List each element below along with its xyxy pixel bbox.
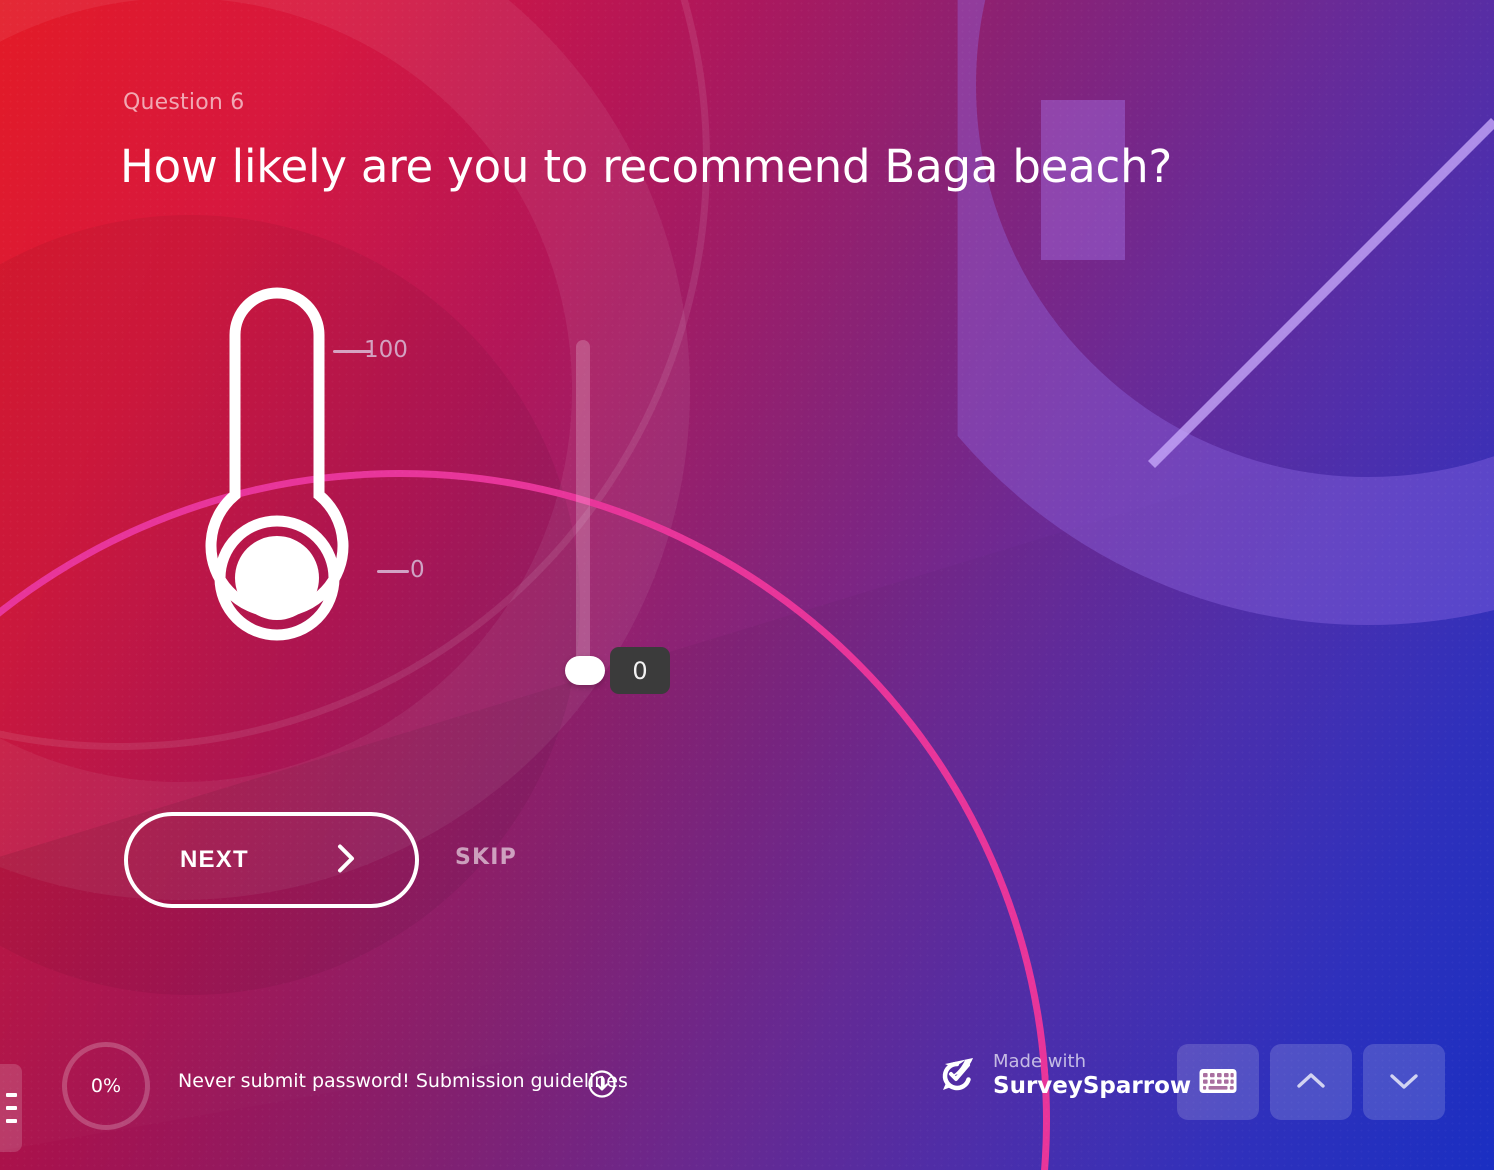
progress-label: 0% <box>91 1075 121 1097</box>
chevron-down-icon <box>1387 1069 1421 1096</box>
chevron-right-icon <box>335 843 357 878</box>
next-button[interactable]: NEXT <box>124 812 419 908</box>
keyboard-icon <box>1198 1066 1238 1099</box>
product-name: SurveySparrow <box>993 1073 1191 1099</box>
next-button-label: NEXT <box>180 846 249 874</box>
survey-content: Question 6 How likely are you to recomme… <box>0 0 1494 1170</box>
menu-dots-icon[interactable] <box>0 1064 22 1152</box>
surveysparrow-check-icon <box>935 1052 979 1100</box>
rating-value-bubble: 0 <box>610 647 670 694</box>
progress-indicator: 0% <box>62 1042 150 1130</box>
submission-warning-text: Never submit password! Submission guidel… <box>178 1070 628 1092</box>
rating-slider-track[interactable] <box>576 340 590 682</box>
next-question-button[interactable] <box>1363 1044 1445 1120</box>
skip-button[interactable]: SKIP <box>455 845 517 870</box>
previous-question-button[interactable] <box>1270 1044 1352 1120</box>
thermometer-graphic: 100 0 <box>165 280 395 694</box>
keyboard-button[interactable] <box>1177 1044 1259 1120</box>
scale-label-max: 100 <box>364 337 408 363</box>
made-with-label: Made with <box>993 1052 1191 1073</box>
question-title: How likely are you to recommend Baga bea… <box>120 140 1172 193</box>
question-number: Question 6 <box>123 90 244 115</box>
chevron-up-icon <box>1294 1069 1328 1096</box>
download-circle-icon[interactable] <box>587 1069 617 1103</box>
branding[interactable]: Made with SurveySparrow <box>935 1052 1191 1100</box>
footer-nav-buttons <box>1177 1044 1445 1120</box>
rating-slider-thumb[interactable] <box>565 656 605 685</box>
scale-tick-min <box>377 570 409 573</box>
scale-label-min: 0 <box>410 557 425 583</box>
thermometer-icon <box>165 280 395 690</box>
